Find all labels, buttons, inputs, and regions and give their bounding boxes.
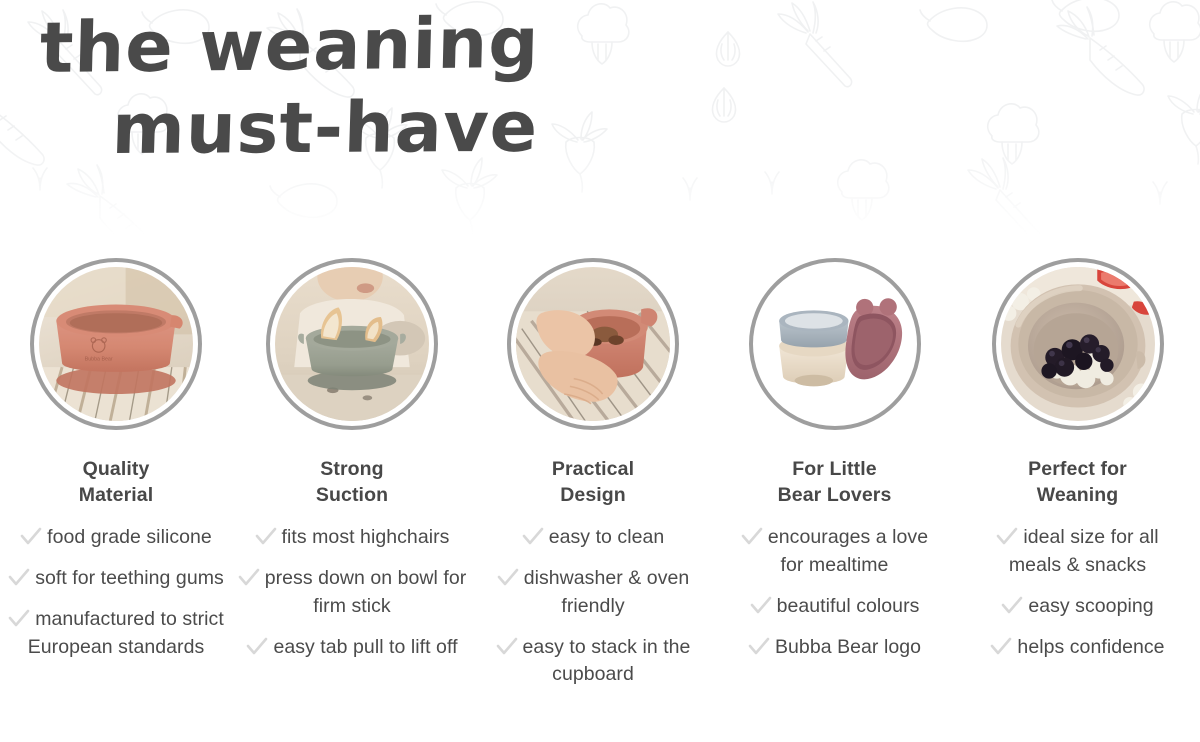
- bullet-text: helps confidence: [1017, 636, 1164, 658]
- column-heading-practical-design: Practical Design: [552, 457, 634, 508]
- taupe-bowl-with-blueberries-image: [1001, 267, 1155, 421]
- heading-line: Practical: [552, 457, 634, 483]
- bullet-item: fits most highchairs: [255, 524, 450, 552]
- check-icon: [750, 596, 772, 616]
- bullet-text: easy to stack in the cupboard: [523, 636, 691, 686]
- bullet-text: easy to clean: [549, 526, 665, 548]
- bullet-item: press down on bowl for firm stick: [233, 565, 471, 620]
- column-heading-strong-suction: Strong Suction: [316, 457, 388, 508]
- heading-line: Strong: [316, 457, 388, 483]
- column-heading-for-little-bear-lovers: For Little Bear Lovers: [778, 457, 892, 508]
- heading-line: Weaning: [1028, 483, 1127, 509]
- heading-line: Perfect for: [1028, 457, 1127, 483]
- feature-column-quality-material: Bubba Bear Quality Material food grade s…: [0, 258, 232, 661]
- check-icon: [8, 609, 30, 629]
- bullet-item: food grade silicone: [20, 524, 212, 552]
- bullet-text: easy scooping: [1028, 595, 1153, 617]
- bullet-item: easy tab pull to lift off: [246, 634, 457, 662]
- heading-line: For Little: [778, 457, 892, 483]
- bullet-item: easy to clean: [522, 524, 665, 552]
- photo-circle-strong-suction: [266, 258, 438, 430]
- headline-line-2: must-have: [111, 92, 677, 164]
- feature-column-practical-design: Practical Design easy to clean dishwashe…: [472, 258, 714, 689]
- feature-column-strong-suction: Strong Suction fits most highchairs pres…: [232, 258, 472, 661]
- heading-line: Material: [79, 483, 154, 509]
- check-icon: [496, 637, 518, 657]
- bullet-item: easy scooping: [1001, 593, 1153, 621]
- feature-columns: Bubba Bear Quality Material food grade s…: [0, 258, 1200, 689]
- bullet-list-for-little-bear-lovers: encourages a love for mealtime beautiful…: [714, 524, 955, 661]
- bullet-text: food grade silicone: [47, 526, 212, 548]
- check-icon: [748, 637, 770, 657]
- stacked-bowls-and-bear-ear-bowl-image: [758, 267, 912, 421]
- bullet-text: manufactured to strict European standard…: [28, 608, 224, 658]
- photo-circle-perfect-for-weaning: [992, 258, 1164, 430]
- bullet-item: ideal size for all meals & snacks: [973, 524, 1183, 579]
- bullet-text: beautiful colours: [777, 595, 920, 617]
- bullet-item: manufactured to strict European standard…: [5, 606, 227, 661]
- headline-line-1: the weaning: [39, 7, 677, 82]
- check-icon: [741, 527, 763, 547]
- bullet-text: encourages a love for mealtime: [768, 526, 928, 576]
- bullet-list-quality-material: food grade silicone soft for teething gu…: [0, 524, 232, 661]
- check-icon: [522, 527, 544, 547]
- bullet-item: encourages a love for mealtime: [735, 524, 935, 579]
- bullet-item: dishwasher & oven friendly: [480, 565, 706, 620]
- column-heading-perfect-for-weaning: Perfect for Weaning: [1028, 457, 1127, 508]
- check-icon: [238, 568, 260, 588]
- check-icon: [8, 568, 30, 588]
- check-icon: [255, 527, 277, 547]
- heading-line: Suction: [316, 483, 388, 509]
- bullet-item: easy to stack in the cupboard: [480, 634, 706, 689]
- feature-column-for-little-bear-lovers: For Little Bear Lovers encourages a love…: [714, 258, 955, 661]
- bullet-text: ideal size for all meals & snacks: [1009, 526, 1159, 576]
- photo-circle-practical-design: [507, 258, 679, 430]
- heading-line: Bear Lovers: [778, 483, 892, 509]
- bullet-item: helps confidence: [990, 634, 1164, 662]
- heading-line: Quality: [79, 457, 154, 483]
- bullet-list-practical-design: easy to clean dishwasher & oven friendly…: [472, 524, 714, 688]
- bullet-text: Bubba Bear logo: [775, 636, 921, 658]
- bubba-bear-logo-text: Bubba Bear: [85, 356, 113, 362]
- terracotta-bowl-on-striped-cloth-image: Bubba Bear: [39, 267, 193, 421]
- bullet-item: soft for teething gums: [8, 565, 224, 593]
- bullet-item: Bubba Bear logo: [748, 634, 921, 662]
- heading-line: Design: [552, 483, 634, 509]
- check-icon: [20, 527, 42, 547]
- column-heading-quality-material: Quality Material: [79, 457, 154, 508]
- check-icon: [996, 527, 1018, 547]
- check-icon: [497, 568, 519, 588]
- bullet-text: dishwasher & oven friendly: [524, 567, 690, 617]
- check-icon: [246, 637, 268, 657]
- sage-bowl-with-bread-and-baby-image: [275, 267, 429, 421]
- bullet-text: easy tab pull to lift off: [273, 636, 457, 658]
- child-hands-holding-terracotta-bowl-image: [516, 267, 670, 421]
- bullet-item: beautiful colours: [750, 593, 920, 621]
- bullet-text: press down on bowl for firm stick: [265, 567, 467, 617]
- bullet-list-perfect-for-weaning: ideal size for all meals & snacks easy s…: [955, 524, 1200, 661]
- check-icon: [990, 637, 1012, 657]
- photo-circle-quality-material: Bubba Bear: [30, 258, 202, 430]
- photo-circle-for-little-bear-lovers: [749, 258, 921, 430]
- bullet-list-strong-suction: fits most highchairs press down on bowl …: [232, 524, 472, 661]
- bullet-text: fits most highchairs: [282, 526, 450, 548]
- feature-column-perfect-for-weaning: Perfect for Weaning ideal size for all m…: [955, 258, 1200, 661]
- bullet-text: soft for teething gums: [35, 567, 224, 589]
- page-title: the weaning must-have: [36, 14, 676, 163]
- check-icon: [1001, 596, 1023, 616]
